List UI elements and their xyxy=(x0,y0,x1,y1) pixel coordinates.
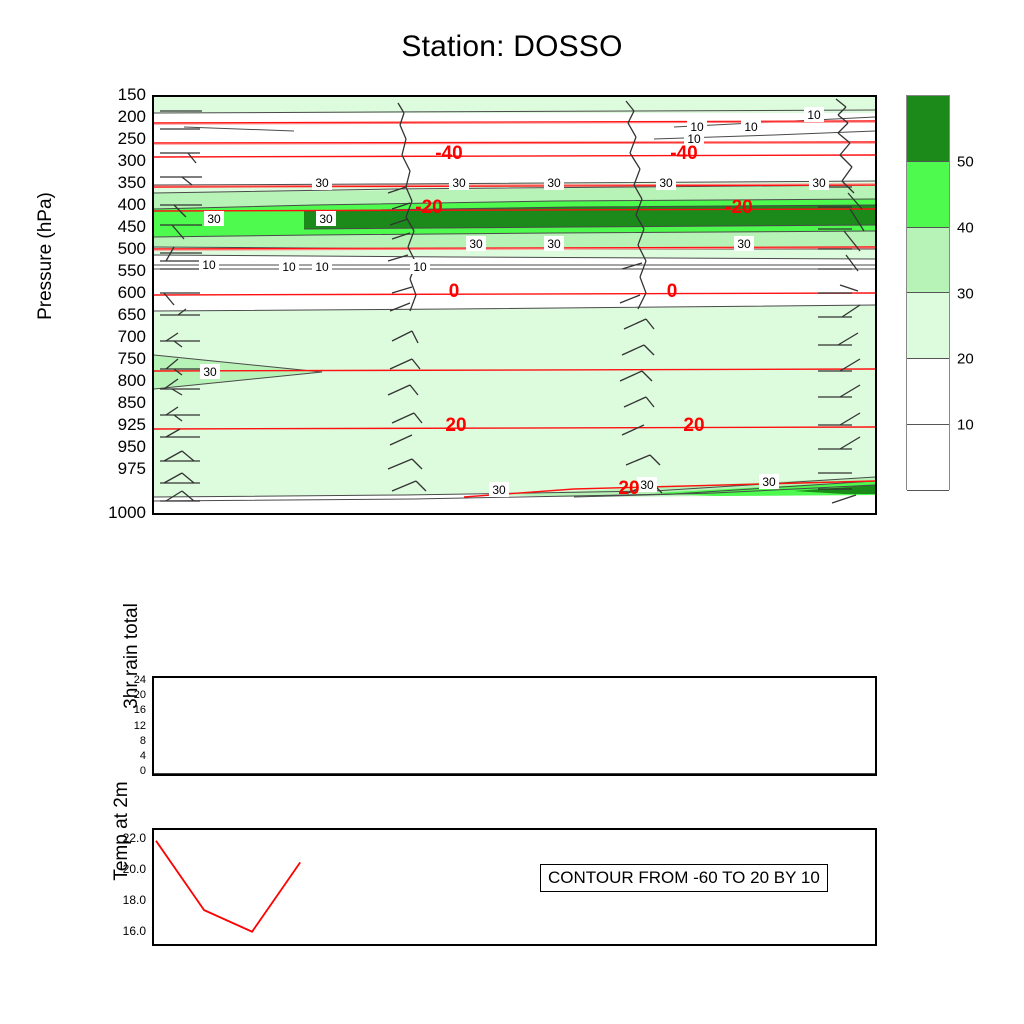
pressure-tick-800: 800 xyxy=(118,371,146,391)
colorbar-band-4 xyxy=(907,359,949,425)
rain-tick-0: 0 xyxy=(140,765,146,777)
wind-speed-label-10: 10 xyxy=(315,260,329,274)
pressure-tick-700: 700 xyxy=(118,327,146,347)
colorbar-band-1 xyxy=(907,162,949,228)
colorbar-label-30: 30 xyxy=(957,285,974,302)
pressure-axis-label: Pressure (hPa) xyxy=(35,176,57,336)
pressure-tick-500: 500 xyxy=(118,239,146,259)
temp-tick-22.0: 22.0 xyxy=(123,831,146,845)
temp-axis-ticks: 22.020.018.016.0 xyxy=(100,828,146,946)
rain-total-panel[interactable] xyxy=(152,676,877,776)
wind-speed-label-30: 30 xyxy=(203,365,217,379)
isotherm-label-0: 0 xyxy=(449,281,460,302)
pressure-tick-600: 600 xyxy=(118,283,146,303)
wind-speed-label-30: 30 xyxy=(812,176,826,190)
cross-section-svg: 3030303030303030303010101010101010103030… xyxy=(154,97,875,513)
wind-speed-label-30: 30 xyxy=(207,212,221,226)
colorbar-label-50: 50 xyxy=(957,153,974,170)
rain-tick-20: 20 xyxy=(134,689,146,701)
wind-speed-label-30: 30 xyxy=(469,237,483,251)
pressure-tick-975: 975 xyxy=(118,459,146,479)
rain-tick-8: 8 xyxy=(140,735,146,747)
contour-note: CONTOUR FROM -60 TO 20 BY 10 xyxy=(540,864,828,892)
pressure-tick-750: 750 xyxy=(118,349,146,369)
wind-speed-label-30: 30 xyxy=(452,176,466,190)
pressure-tick-400: 400 xyxy=(118,195,146,215)
pressure-tick-300: 300 xyxy=(118,151,146,171)
wind-speed-label-30: 30 xyxy=(315,176,329,190)
temp-tick-18.0: 18.0 xyxy=(123,893,146,907)
wind-speed-label-30: 30 xyxy=(640,478,654,492)
isotherm-label-20: 20 xyxy=(618,478,639,499)
temp-trace-line xyxy=(156,841,300,932)
pressure-tick-150: 150 xyxy=(118,85,146,105)
colorbar-band-5 xyxy=(907,425,949,491)
wind-speed-label-30: 30 xyxy=(659,176,673,190)
isotherm-label-20: 20 xyxy=(445,415,466,436)
temp-tick-20.0: 20.0 xyxy=(123,862,146,876)
pressure-tick-1000: 1000 xyxy=(108,503,146,523)
colorbar-band-2 xyxy=(907,228,949,294)
wind-speed-colorbar[interactable]: 5040302010 xyxy=(906,95,950,490)
wind-speed-label-10: 10 xyxy=(807,108,821,122)
colorbar-label-40: 40 xyxy=(957,219,974,236)
isotherm-label-0: 0 xyxy=(667,281,678,302)
colorbar-label-10: 10 xyxy=(957,417,974,434)
isotherm-label-20: 20 xyxy=(683,415,704,436)
temp-tick-16.0: 16.0 xyxy=(123,924,146,938)
pressure-axis-ticks: 1502002503003504004505005506006507007508… xyxy=(96,95,146,515)
rain-tick-12: 12 xyxy=(134,720,146,732)
wind-speed-label-30: 30 xyxy=(762,475,776,489)
pressure-tick-450: 450 xyxy=(118,217,146,237)
pressure-tick-950: 950 xyxy=(118,437,146,457)
wind-speed-label-10: 10 xyxy=(202,258,216,272)
wind-speed-label-30: 30 xyxy=(737,237,751,251)
wind-speed-label-30: 30 xyxy=(547,176,561,190)
pressure-tick-250: 250 xyxy=(118,129,146,149)
rain-tick-24: 24 xyxy=(134,674,146,686)
wind-speed-label-30: 30 xyxy=(547,237,561,251)
rain-tick-4: 4 xyxy=(140,750,146,762)
colorbar-band-3 xyxy=(907,293,949,359)
colorbar-band-0 xyxy=(907,96,949,162)
pressure-tick-925: 925 xyxy=(118,415,146,435)
pressure-tick-200: 200 xyxy=(118,107,146,127)
isotherm-label--40: -40 xyxy=(670,143,697,164)
sounding-cross-section-panel[interactable]: 3030303030303030303010101010101010103030… xyxy=(152,95,877,515)
pressure-tick-850: 850 xyxy=(118,393,146,413)
rain-tick-16: 16 xyxy=(134,704,146,716)
colorbar-label-20: 20 xyxy=(957,351,974,368)
wind-speed-label-10: 10 xyxy=(282,260,296,274)
isotherm-label--20: -20 xyxy=(725,197,752,218)
page-title: Station: DOSSO xyxy=(0,30,1024,64)
pressure-tick-650: 650 xyxy=(118,305,146,325)
pressure-tick-350: 350 xyxy=(118,173,146,193)
isotherm-label--40: -40 xyxy=(435,143,462,164)
wind-speed-label-30: 30 xyxy=(492,483,506,497)
wind-speed-label-10: 10 xyxy=(744,120,758,134)
wind-speed-label-10: 10 xyxy=(413,260,427,274)
rain-series-svg xyxy=(154,678,875,774)
wind-speed-label-30: 30 xyxy=(319,212,333,226)
isotherm-label--20: -20 xyxy=(415,197,442,218)
pressure-tick-550: 550 xyxy=(118,261,146,281)
